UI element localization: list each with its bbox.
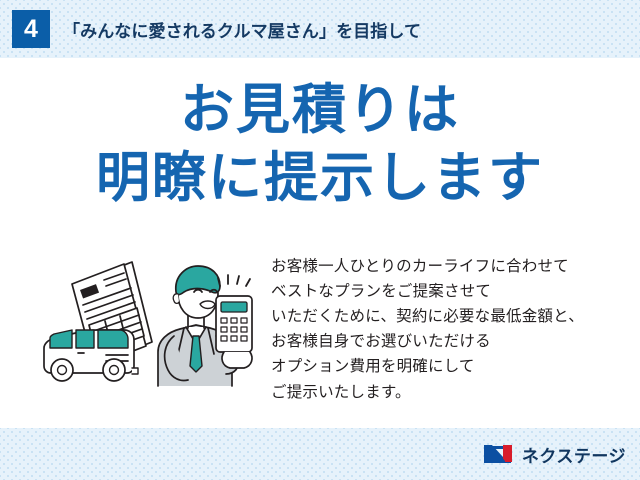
body-line: オプション費用を明確にして [271, 354, 631, 379]
header-content: 4 「みんなに愛されるクルマ屋さん」を目指して [0, 0, 640, 58]
promo-banner: 4 「みんなに愛されるクルマ屋さん」を目指して お見積りは 明瞭に提示します お… [0, 0, 640, 480]
body-line: いただくために、契約に必要な最低金額と、 [271, 304, 631, 329]
body-line: ベストなプランをご提案させて [271, 279, 631, 304]
calculator-illustration [216, 296, 252, 368]
footer-band: ネクステージ [0, 428, 640, 480]
page-title: お見積りは 明瞭に提示します [0, 80, 640, 209]
van-illustration [44, 330, 138, 381]
nextage-n-icon [481, 443, 515, 465]
header-band: 4 「みんなに愛されるクルマ屋さん」を目指して [0, 0, 640, 58]
body-paragraph: お客様一人ひとりのカーライフに合わせて ベストなプランをご提案させて いただくた… [271, 254, 631, 405]
sparkle-icon [218, 275, 250, 286]
header-title: 「みんなに愛されるクルマ屋さん」を目指して [63, 17, 421, 42]
main-content: お見積りは 明瞭に提示します お客様一人ひとりのカーライフに合わせて ベストなプ… [0, 58, 640, 428]
body-line: お客様一人ひとりのカーライフに合わせて [271, 254, 631, 279]
step-number-badge: 4 [12, 10, 50, 48]
body-line: お客様自身でお選びいただける [271, 329, 631, 354]
brand-name: ネクステージ [522, 442, 626, 467]
body-line: ご提示いたします。 [271, 380, 631, 405]
brand-logo: ネクステージ [481, 442, 626, 467]
headline-line-1: お見積りは [0, 80, 640, 140]
illustration-svg [28, 248, 264, 418]
headline-line-2: 明瞭に提示します [0, 148, 640, 208]
footer-content: ネクステージ [0, 428, 640, 480]
salesman-illustration [28, 248, 264, 418]
